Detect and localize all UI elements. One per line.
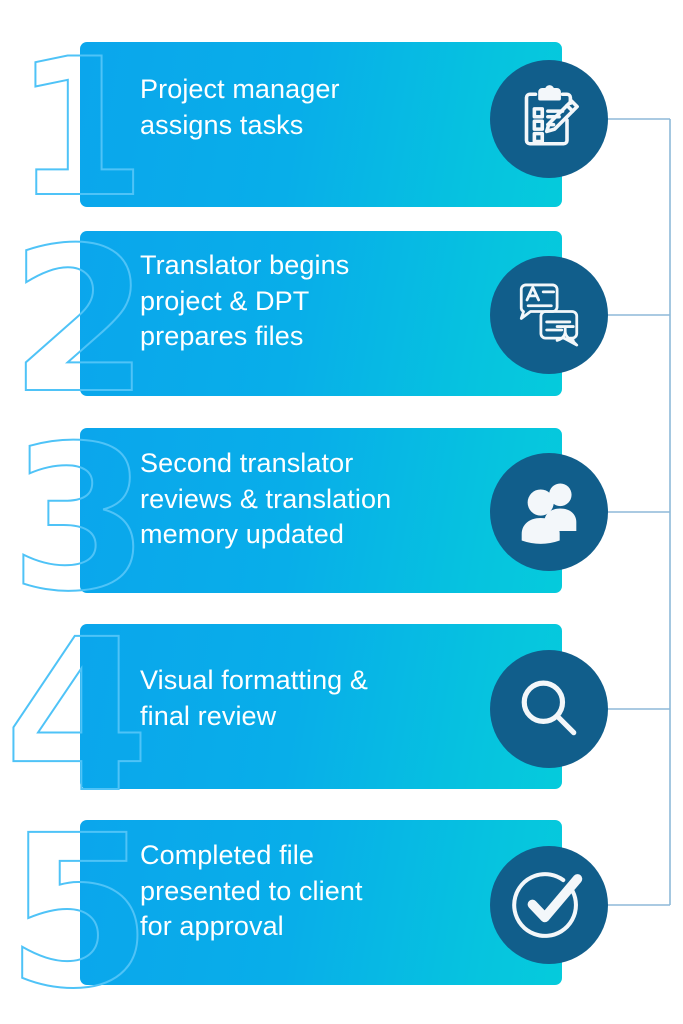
step-text: Second translator reviews & translation …	[140, 446, 391, 553]
step-text: Project manager assigns tasks	[140, 72, 340, 143]
workflow-infographic: 1Project manager assigns tasks 2Translat…	[0, 0, 683, 1024]
step-text: Visual formatting & final review	[140, 663, 368, 734]
magnifier-icon	[490, 650, 608, 768]
two-people-icon	[490, 453, 608, 571]
step-text: Translator begins project & DPT prepares…	[140, 248, 349, 355]
check-circle-icon	[490, 846, 608, 964]
translation-bubbles-icon	[490, 256, 608, 374]
step-text: Completed file presented to client for a…	[140, 838, 363, 945]
clipboard-pencil-icon	[490, 60, 608, 178]
